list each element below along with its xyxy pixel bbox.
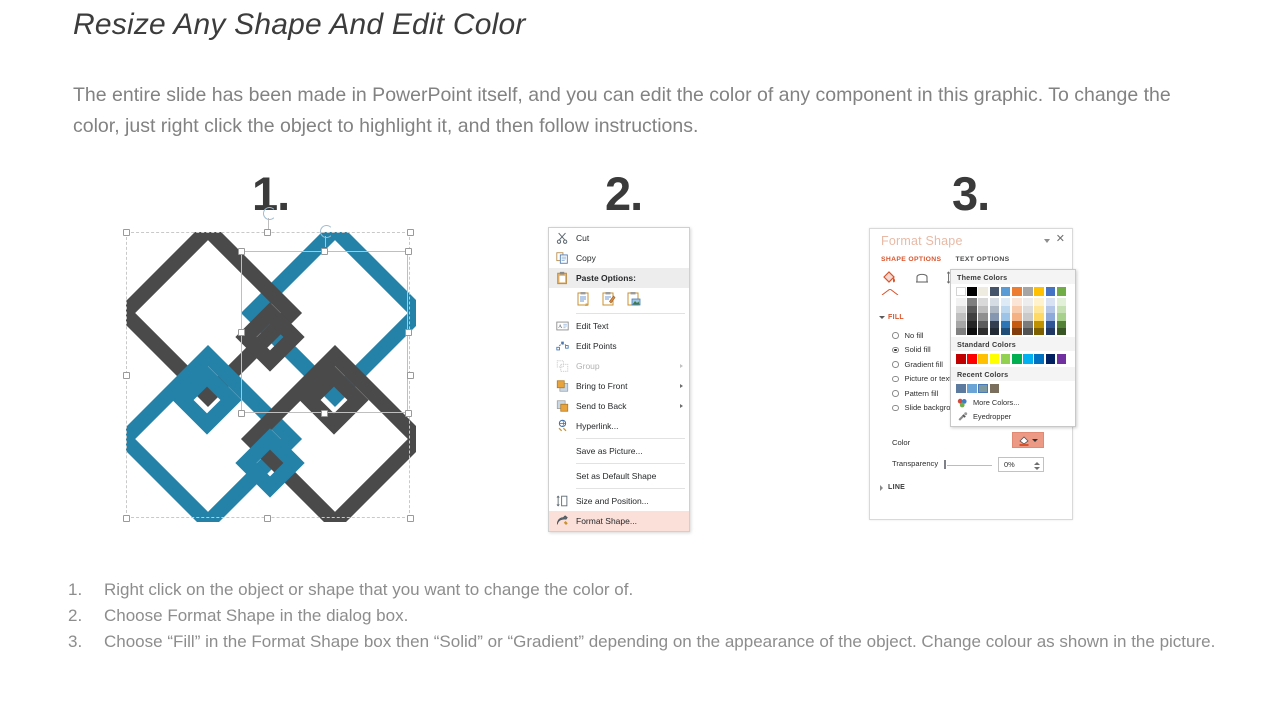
chevron-down-icon[interactable] <box>1032 439 1038 442</box>
swatch[interactable] <box>1001 328 1011 335</box>
menu-item-hyperlink[interactable]: Hyperlink... <box>549 416 689 436</box>
swatch[interactable] <box>1034 298 1044 305</box>
rotate-handle-inner[interactable] <box>320 225 333 238</box>
swatch[interactable] <box>990 384 1000 393</box>
resize-handle-s[interactable] <box>264 515 271 522</box>
step-number-2: 2. <box>605 170 642 217</box>
swatch[interactable] <box>978 287 988 296</box>
swatch[interactable] <box>1046 287 1056 296</box>
option-label: More Colors... <box>973 398 1019 407</box>
hyperlink-icon <box>555 419 570 433</box>
resize-handle-w[interactable] <box>123 372 130 379</box>
paste-keep-formatting-icon[interactable] <box>601 291 617 307</box>
fill-bucket-icon[interactable] <box>881 269 899 286</box>
swatch[interactable] <box>1023 287 1033 296</box>
swatch[interactable] <box>1034 313 1044 320</box>
step-number-3: 3. <box>952 170 989 217</box>
swatch[interactable] <box>956 328 966 335</box>
swatch[interactable] <box>1012 313 1022 320</box>
spinner-buttons[interactable] <box>1034 459 1040 472</box>
swatch[interactable] <box>1034 306 1044 313</box>
list-item: 1. Right click on the object or shape th… <box>68 577 1268 603</box>
transparency-value: 0% <box>1004 460 1015 469</box>
swatch[interactable] <box>978 298 988 305</box>
swatch[interactable] <box>978 384 988 393</box>
menu-item-size-and-position[interactable]: Size and Position... <box>549 491 689 511</box>
radio-indicator[interactable] <box>892 361 899 368</box>
swatch[interactable] <box>1034 354 1044 363</box>
swatch[interactable] <box>1012 306 1022 313</box>
radio-indicator[interactable] <box>892 405 899 412</box>
swatch[interactable] <box>1034 287 1044 296</box>
inner-selection-box <box>241 251 408 413</box>
edit-points-icon <box>555 339 570 353</box>
section-line-label[interactable]: LINE <box>888 484 905 491</box>
menu-item-label: Edit Text <box>576 322 608 331</box>
resize-handle-nw[interactable] <box>123 229 130 236</box>
swatch[interactable] <box>967 384 977 393</box>
format-shape-icon <box>555 514 570 528</box>
color-dropdown[interactable]: Theme Colors Standard Colors <box>950 269 1076 427</box>
option-label: Eyedropper <box>973 412 1011 421</box>
menu-item-label: Group <box>576 362 600 371</box>
menu-item-edit-points[interactable]: Edit Points <box>549 336 689 356</box>
radio-indicator[interactable] <box>892 332 899 339</box>
menu-item-label: Format Shape... <box>576 517 637 526</box>
theme-color-column[interactable] <box>1012 287 1022 335</box>
swatch[interactable] <box>978 328 988 335</box>
svg-text:a: a <box>585 302 588 307</box>
menu-item-label: Send to Back <box>576 402 627 411</box>
resize-handle-ne[interactable] <box>407 229 414 236</box>
list-item-text: Choose “Fill” in the Format Shape box th… <box>104 629 1268 655</box>
menu-item-cut[interactable]: Cut <box>549 228 689 248</box>
swatch[interactable] <box>990 328 1000 335</box>
swatch[interactable] <box>978 306 988 313</box>
swatch[interactable] <box>956 384 966 393</box>
radio-label: Pattern fill <box>905 389 939 398</box>
swatch[interactable] <box>1046 313 1056 320</box>
group-icon <box>555 359 570 373</box>
swatch[interactable] <box>1034 321 1044 328</box>
theme-color-column[interactable] <box>990 287 1000 335</box>
size-position-icon <box>555 494 570 508</box>
swatch[interactable] <box>1012 321 1022 328</box>
swatch[interactable] <box>1001 313 1011 320</box>
list-item: 3. Choose “Fill” in the Format Shape box… <box>68 629 1268 655</box>
submenu-arrow-icon <box>680 404 683 408</box>
send-back-icon <box>555 399 570 413</box>
swatch[interactable] <box>1046 354 1056 363</box>
menu-item-group[interactable]: Group <box>549 356 689 376</box>
tab-shape-options[interactable]: SHAPE OPTIONS <box>881 256 941 263</box>
inner-resize-handle-se[interactable] <box>405 410 412 417</box>
menu-item-paste-options[interactable]: Paste Options: <box>549 268 689 288</box>
recent-colors-header: Recent Colors <box>951 367 1075 381</box>
inner-resize-handle-w[interactable] <box>238 329 245 336</box>
transparency-row-label: Transparency <box>892 459 938 468</box>
swatch[interactable] <box>1034 328 1044 335</box>
swatch[interactable] <box>1046 298 1056 305</box>
spinner-up-icon[interactable] <box>1034 462 1040 465</box>
swatch[interactable] <box>956 298 966 305</box>
page-subtitle: The entire slide has been made in PowerP… <box>73 80 1213 142</box>
transparency-slider-track[interactable] <box>947 465 992 466</box>
menu-item-label: Bring to Front <box>576 382 628 391</box>
swatch[interactable] <box>1023 306 1033 313</box>
list-item-number: 1. <box>68 577 104 603</box>
swatch[interactable] <box>1001 298 1011 305</box>
swatch[interactable] <box>1046 328 1056 335</box>
swatch[interactable] <box>990 306 1000 313</box>
menu-item-label: Set as Default Shape <box>576 472 656 481</box>
swatch[interactable] <box>990 354 1000 363</box>
swatch[interactable] <box>1012 298 1022 305</box>
swatch[interactable] <box>1057 298 1067 305</box>
context-menu[interactable]: Cut Copy Paste Options: a <box>548 227 690 532</box>
inner-resize-handle-nw[interactable] <box>238 248 245 255</box>
fill-color-swatch-icon <box>1018 435 1030 446</box>
swatch[interactable] <box>1001 354 1011 363</box>
theme-color-column[interactable] <box>1057 287 1067 335</box>
swatch[interactable] <box>1057 287 1067 296</box>
theme-color-column[interactable] <box>1001 287 1011 335</box>
theme-color-column[interactable] <box>1034 287 1044 335</box>
eyedropper-option[interactable]: Eyedropper <box>951 410 1075 424</box>
instructions-list: 1. Right click on the object or shape th… <box>68 577 1268 655</box>
submenu-arrow-icon <box>680 384 683 388</box>
transparency-value-input[interactable]: 0% <box>998 457 1044 472</box>
resize-handle-e[interactable] <box>407 372 414 379</box>
swatch[interactable] <box>978 313 988 320</box>
section-fill-label[interactable]: FILL <box>888 314 904 321</box>
radio-label: No fill <box>905 331 924 340</box>
spinner-down-icon[interactable] <box>1034 467 1040 470</box>
shape-graphic-panel[interactable] <box>126 232 416 522</box>
theme-color-column[interactable] <box>978 287 988 335</box>
list-item-text: Choose Format Shape in the dialog box. <box>104 603 1268 629</box>
swatch[interactable] <box>1057 354 1067 363</box>
radio-indicator[interactable] <box>892 390 899 397</box>
collapse-triangle-icon[interactable] <box>879 316 885 319</box>
theme-color-column[interactable] <box>1023 287 1033 335</box>
transparency-slider-knob[interactable] <box>944 460 946 469</box>
menu-item-set-as-default-shape[interactable]: Set as Default Shape <box>549 466 689 486</box>
swatch[interactable] <box>956 321 966 328</box>
inner-resize-handle-s[interactable] <box>321 410 328 417</box>
chevron-down-icon[interactable] <box>1044 239 1050 243</box>
swatch[interactable] <box>1023 354 1033 363</box>
color-row-label: Color <box>892 438 910 447</box>
expand-triangle-icon[interactable] <box>880 485 883 491</box>
menu-item-label: Save as Picture... <box>576 447 643 456</box>
list-item: 2. Choose Format Shape in the dialog box… <box>68 603 1268 629</box>
page-title: Resize Any Shape And Edit Color <box>73 8 526 42</box>
swatch[interactable] <box>1057 313 1067 320</box>
resize-handle-n[interactable] <box>264 229 271 236</box>
color-picker-button[interactable] <box>1012 432 1044 448</box>
inner-resize-handle-ne[interactable] <box>405 248 412 255</box>
menu-item-label: Edit Points <box>576 342 617 351</box>
list-item-number: 3. <box>68 629 104 655</box>
radio-label: Solid fill <box>905 345 931 354</box>
swatch[interactable] <box>990 321 1000 328</box>
swatch[interactable] <box>956 354 966 363</box>
menu-item-label: Hyperlink... <box>576 422 619 431</box>
submenu-arrow-icon <box>680 364 683 368</box>
rotate-handle-outer[interactable] <box>263 207 276 220</box>
list-item-text: Right click on the object or shape that … <box>104 577 1268 603</box>
menu-separator <box>576 488 685 489</box>
swatch[interactable] <box>1001 321 1011 328</box>
swatch[interactable] <box>967 313 977 320</box>
menu-separator <box>576 463 685 464</box>
menu-item-edit-text[interactable]: A Edit Text <box>549 316 689 336</box>
theme-color-column[interactable] <box>956 287 966 335</box>
paste-options-row[interactable]: a <box>549 288 689 311</box>
menu-separator <box>576 313 685 314</box>
scissors-icon <box>555 231 570 245</box>
swatch[interactable] <box>1057 306 1067 313</box>
format-shape-pane[interactable]: Format Shape ✕ SHAPE OPTIONS TEXT OPTION… <box>869 228 1073 520</box>
standard-colors-header: Standard Colors <box>951 337 1075 351</box>
paste-icon <box>555 271 570 285</box>
recent-colors-grid[interactable] <box>951 381 1075 396</box>
swatch[interactable] <box>956 306 966 313</box>
menu-item-label: Paste Options: <box>576 274 636 283</box>
inner-resize-handle-n[interactable] <box>321 248 328 255</box>
theme-color-column[interactable] <box>1046 287 1056 335</box>
radio-indicator[interactable] <box>892 376 899 383</box>
theme-colors-grid[interactable] <box>951 284 1075 337</box>
menu-item-label: Copy <box>576 254 596 263</box>
paste-picture-icon[interactable] <box>626 291 642 307</box>
swatch[interactable] <box>1023 328 1033 335</box>
close-icon[interactable]: ✕ <box>1056 234 1065 245</box>
swatch[interactable] <box>1023 313 1033 320</box>
swatch[interactable] <box>990 287 1000 296</box>
swatch[interactable] <box>1023 298 1033 305</box>
menu-item-format-shape[interactable]: Format Shape... <box>549 511 689 531</box>
edit-text-icon: A <box>555 319 570 333</box>
swatch[interactable] <box>1001 287 1011 296</box>
radio-label: Gradient fill <box>905 360 943 369</box>
swatch[interactable] <box>1057 321 1067 328</box>
swatch[interactable] <box>956 287 966 296</box>
resize-handle-sw[interactable] <box>123 515 130 522</box>
swatch[interactable] <box>967 328 977 335</box>
menu-separator <box>576 438 685 439</box>
swatch[interactable] <box>967 306 977 313</box>
swatch[interactable] <box>990 313 1000 320</box>
theme-colors-header: Theme Colors <box>951 270 1075 284</box>
paste-keep-source-icon[interactable]: a <box>576 291 592 307</box>
swatch[interactable] <box>978 321 988 328</box>
swatch[interactable] <box>978 354 988 363</box>
bring-front-icon <box>555 379 570 393</box>
swatch[interactable] <box>1012 328 1022 335</box>
swatch[interactable] <box>990 298 1000 305</box>
swatch[interactable] <box>956 313 966 320</box>
copy-icon <box>555 251 570 265</box>
tab-text-options[interactable]: TEXT OPTIONS <box>955 256 1009 263</box>
swatch[interactable] <box>1012 354 1022 363</box>
menu-item-label: Size and Position... <box>576 497 649 506</box>
swatch[interactable] <box>1046 306 1056 313</box>
menu-item-label: Cut <box>576 234 589 243</box>
effects-pentagon-icon[interactable] <box>913 269 931 286</box>
swatch[interactable] <box>1046 321 1056 328</box>
active-tab-indicator <box>881 289 899 295</box>
swatch[interactable] <box>1012 287 1022 296</box>
standard-colors-grid[interactable] <box>951 351 1075 366</box>
menu-item-bring-to-front[interactable]: Bring to Front <box>549 376 689 396</box>
menu-item-copy[interactable]: Copy <box>549 248 689 268</box>
list-item-number: 2. <box>68 603 104 629</box>
swatch[interactable] <box>1057 328 1067 335</box>
menu-item-send-to-back[interactable]: Send to Back <box>549 396 689 416</box>
swatch[interactable] <box>967 287 977 296</box>
swatch[interactable] <box>1023 321 1033 328</box>
menu-item-save-as-picture[interactable]: Save as Picture... <box>549 441 689 461</box>
radio-indicator[interactable] <box>892 347 899 354</box>
eyedropper-icon <box>957 412 968 422</box>
theme-color-column[interactable] <box>967 287 977 335</box>
swatch[interactable] <box>967 298 977 305</box>
slide-root: Resize Any Shape And Edit Color The enti… <box>0 0 1280 720</box>
pane-title: Format Shape <box>881 234 963 248</box>
resize-handle-se[interactable] <box>407 515 414 522</box>
inner-resize-handle-e[interactable] <box>405 329 412 336</box>
more-colors-option[interactable]: More Colors... <box>951 396 1075 410</box>
pane-tabs[interactable]: SHAPE OPTIONS TEXT OPTIONS <box>881 256 1010 263</box>
inner-resize-handle-sw[interactable] <box>238 410 245 417</box>
swatch[interactable] <box>967 321 977 328</box>
more-colors-icon <box>957 398 968 408</box>
swatch[interactable] <box>967 354 977 363</box>
swatch[interactable] <box>1001 306 1011 313</box>
